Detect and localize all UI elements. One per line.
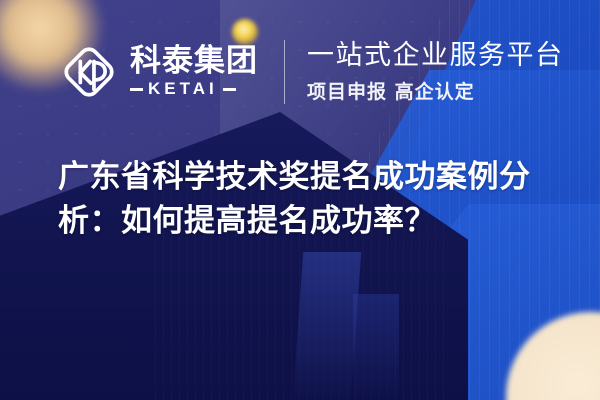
promo-banner: 科泰集团 KETAI 一站式企业服务平台 项目申报 高企认定 广东省科学技术奖提… (0, 0, 600, 400)
brand-divider (284, 40, 285, 104)
brand-name-en: KETAI (148, 79, 218, 99)
dash-right-icon (223, 88, 236, 91)
tagline-group: 一站式企业服务平台 项目申报 高企认定 (307, 40, 564, 103)
ketai-logo-icon (58, 41, 120, 103)
building-block-icon (353, 294, 399, 400)
brand-wordmark: 科泰集团 KETAI (130, 45, 258, 100)
dash-left-icon (130, 88, 143, 91)
brand-header: 科泰集团 KETAI 一站式企业服务平台 项目申报 高企认定 (58, 40, 564, 104)
headline-title: 广东省科学技术奖提名成功案例分析：如何提高提名成功率？ (58, 155, 558, 243)
brand-name-en-row: KETAI (130, 79, 258, 99)
building-block-icon (293, 252, 361, 400)
brand-name-cn: 科泰集团 (130, 45, 258, 78)
tagline-main: 一站式企业服务平台 (307, 40, 564, 71)
tagline-sub: 项目申报 高企认定 (307, 77, 564, 104)
